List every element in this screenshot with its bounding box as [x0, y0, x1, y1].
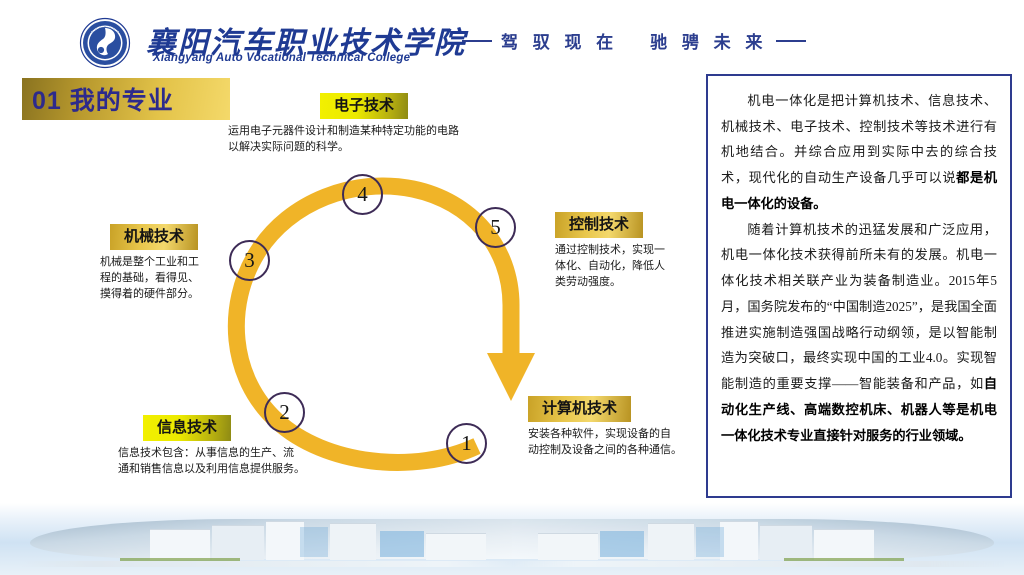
cycle-step-1: 1 [446, 423, 487, 464]
slogan-rule-right [776, 40, 806, 42]
topic-card-control: 控制技术 通过控制技术，实现一 体化、自动化，降低人 类劳动强度。 [555, 212, 675, 291]
cycle-step-4: 4 [342, 174, 383, 215]
topic-card-mechanical: 机械技术 机械是整个工业和工 程的基础，看得见、 摸得着的硬件部分。 [100, 224, 250, 303]
campus-window-band [300, 527, 328, 557]
topic-desc-information: 信息技术包含：从事信息的生产、流 通和销售信息以及利用信息提供服务。 [118, 446, 358, 478]
campus-ground [512, 561, 1004, 567]
campus-building [150, 529, 210, 560]
header-slogan: 驾 驭 现 在 驰 骋 未 来 [462, 28, 806, 53]
school-crest-icon [79, 17, 131, 69]
campus-window-band [380, 531, 424, 557]
topic-title-electronics: 电子技术 [320, 93, 408, 119]
section-title-banner: 01 我的专业 [22, 78, 230, 120]
page-title: 01 我的专业 [32, 81, 174, 117]
topic-card-computer: 计算机技术 安装各种软件，实现设备的自 动控制及设备之间的各种通信。 [528, 396, 703, 459]
campus-panorama-right [512, 503, 1024, 575]
topic-desc-computer: 安装各种软件，实现设备的自 动控制及设备之间的各种通信。 [528, 427, 703, 459]
campus-building [720, 521, 758, 560]
info-paragraph-2: 随着计算机技术的迅猛发展和广泛应用，机电一体化技术获得前所未有的发展。机电一体化… [721, 217, 997, 449]
topic-title-computer: 计算机技术 [528, 396, 631, 422]
campus-window-band [696, 527, 724, 557]
campus-window-band [600, 531, 644, 557]
topic-title-mechanical: 机械技术 [110, 224, 198, 250]
page-header: 襄阳汽车职业技术学院 Xiangyang Auto Vocational Tec… [0, 0, 1024, 72]
campus-building [266, 521, 304, 560]
topic-card-information: 信息技术 信息技术包含：从事信息的生产、流 通和销售信息以及利用信息提供服务。 [118, 415, 358, 478]
topic-desc-mechanical: 机械是整个工业和工 程的基础，看得见、 摸得着的硬件部分。 [100, 255, 250, 303]
campus-building [426, 533, 486, 560]
info-paragraph-2-text: 随着计算机技术的迅猛发展和广泛应用，机电一体化技术获得前所未有的发展。机电一体化… [721, 222, 997, 391]
topic-title-control: 控制技术 [555, 212, 643, 238]
slogan-rule-left [462, 40, 492, 42]
slogan-text-left: 驾 驭 现 在 [501, 28, 618, 53]
slogan-text-right: 驰 骋 未 来 [650, 28, 767, 53]
topic-desc-control: 通过控制技术，实现一 体化、自动化，降低人 类劳动强度。 [555, 243, 675, 291]
campus-building [212, 525, 264, 560]
topic-desc-electronics: 运用电子元器件设计和制造某种特定功能的电路 以解决实际问题的科学。 [228, 124, 528, 156]
info-panel: 机电一体化是把计算机技术、信息技术、机械技术、电子技术、控制技术等技术进行有机地… [706, 74, 1012, 498]
info-paragraph-1: 机电一体化是把计算机技术、信息技术、机械技术、电子技术、控制技术等技术进行有机地… [721, 88, 997, 217]
campus-panorama-image [0, 503, 1024, 575]
campus-building [330, 523, 376, 560]
topic-title-information: 信息技术 [143, 415, 231, 441]
campus-ground [20, 561, 512, 567]
campus-building [538, 533, 598, 560]
cycle-step-5: 5 [475, 207, 516, 248]
campus-building [648, 523, 694, 560]
campus-building [760, 525, 812, 560]
topic-card-electronics: 电子技术 运用电子元器件设计和制造某种特定功能的电路 以解决实际问题的科学。 [228, 93, 528, 156]
college-name-en: Xiangyang Auto Vocational Technical Coll… [153, 52, 410, 64]
campus-panorama-left [0, 503, 512, 575]
campus-building [814, 529, 874, 560]
